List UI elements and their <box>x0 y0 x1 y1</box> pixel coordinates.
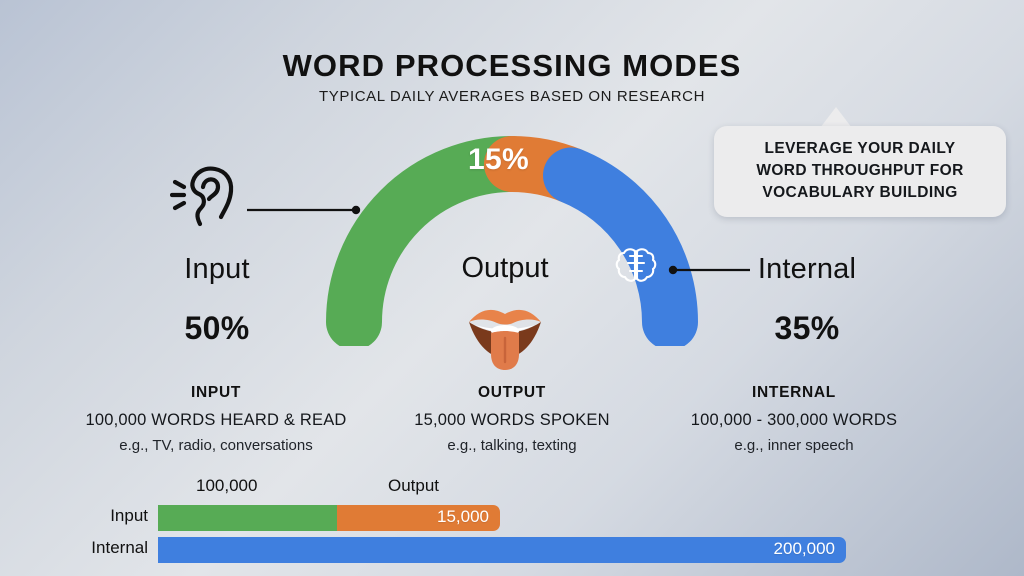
brain-icon <box>614 244 658 293</box>
callout-line-2: WORD THROUGHPUT FOR <box>724 160 996 182</box>
detail-internal-amount: 100,000 - 300,000 WORDS <box>624 411 964 430</box>
gauge-segment-input <box>354 164 512 322</box>
infographic-stage: WORD PROCESSING MODES TYPICAL DAILY AVER… <box>0 0 1024 576</box>
detail-internal-eg: e.g., inner speech <box>624 437 964 454</box>
gauge-center-label: Output <box>395 252 615 285</box>
mouth-tongue-icon <box>463 300 547 377</box>
bar-chart-top-labels: 100,000 Output <box>0 474 1024 500</box>
gauge-percent-label: 15% <box>468 143 529 177</box>
bar-value-internal: 200,000 <box>774 539 835 559</box>
bar-top-label-input: 100,000 <box>196 476 257 496</box>
callout-line-3: VOCABULARY BUILDING <box>724 182 996 204</box>
bar-segment-internal-words: 200,000 <box>158 537 846 563</box>
page-title: WORD PROCESSING MODES <box>0 48 1024 84</box>
bar-top-label-output: Output <box>388 476 439 496</box>
bar-track-internal: 200,000 <box>158 537 846 563</box>
bar-value-output: 15,000 <box>437 507 489 527</box>
mode-input-name: Input <box>102 253 332 286</box>
mode-input-percent: 50% <box>102 310 332 347</box>
bar-segment-input-words <box>158 505 337 531</box>
mode-internal-percent: 35% <box>692 310 922 347</box>
detail-internal-head: INTERNAL <box>624 384 964 402</box>
mode-internal-name: Internal <box>692 253 922 286</box>
page-subtitle: TYPICAL DAILY AVERAGES BASED ON RESEARCH <box>0 88 1024 105</box>
mode-internal: Internal 35% <box>692 253 922 347</box>
detail-column-input: INPUT 100,000 WORDS HEARD & READ e.g., T… <box>46 384 386 454</box>
detail-columns: INPUT 100,000 WORDS HEARD & READ e.g., T… <box>0 384 1024 470</box>
mode-input: Input 50% <box>102 253 332 347</box>
callout-tail <box>820 107 852 128</box>
bar-row-input-label-box: Input <box>0 505 148 531</box>
detail-input-eg: e.g., TV, radio, conversations <box>46 437 386 454</box>
detail-column-internal: INTERNAL 100,000 - 300,000 WORDS e.g., i… <box>624 384 964 454</box>
bar-track-input: 15,000 <box>158 505 500 531</box>
bar-row-input-label: Input <box>110 506 148 526</box>
detail-input-head: INPUT <box>46 384 386 402</box>
bar-row-internal-label: Internal <box>91 538 148 558</box>
bar-segment-output-words: 15,000 <box>337 505 500 531</box>
bar-row-internal-label-box: Internal <box>0 537 148 563</box>
detail-input-amount: 100,000 WORDS HEARD & READ <box>46 411 386 430</box>
leader-line-input <box>245 200 365 220</box>
callout-line-1: LEVERAGE YOUR DAILY <box>724 138 996 160</box>
bar-chart: 100,000 Output Input 15,000 Internal 200… <box>0 474 1024 576</box>
ear-icon <box>170 162 244 233</box>
callout-box: LEVERAGE YOUR DAILY WORD THROUGHPUT FOR … <box>714 126 1006 217</box>
